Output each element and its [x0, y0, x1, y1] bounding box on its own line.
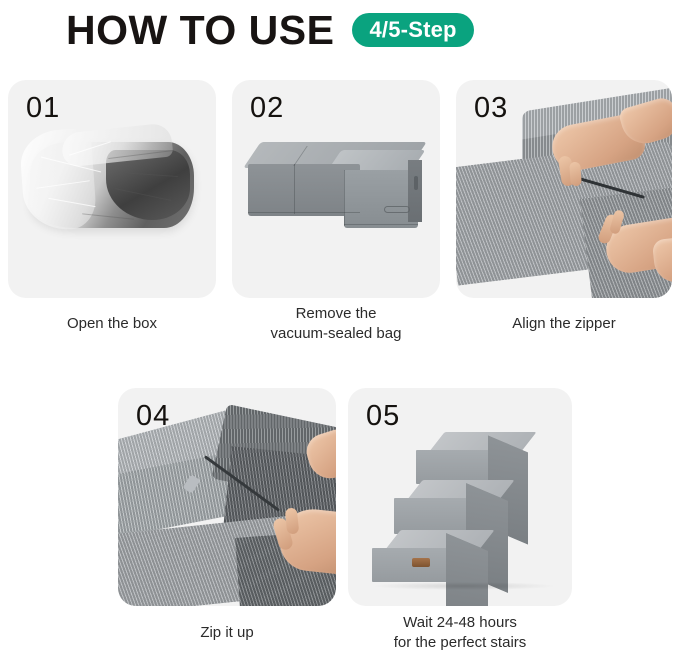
step-number-01: 01 [26, 92, 60, 125]
step-card-01: 01 [8, 80, 216, 298]
step-caption-02: Remove the vacuum-sealed bag [232, 304, 440, 344]
step-card-04: 04 [118, 388, 336, 606]
step-caption-05: Wait 24-48 hours for the perfect stairs [348, 613, 572, 653]
page-title: HOW TO USE [66, 10, 334, 51]
status-badge: 4/5-Step [352, 13, 473, 47]
step-card-02: 02 [232, 80, 440, 298]
step-caption-04: Zip it up [118, 623, 336, 643]
step-caption-03: Align the zipper [456, 314, 672, 334]
header: HOW TO USE 4/5-Step [0, 0, 679, 60]
brand-tag [412, 558, 430, 567]
step-caption-05-line-1: Wait 24-48 hours [348, 613, 572, 633]
step-caption-01: Open the box [8, 314, 216, 334]
step-caption-02-line-2: vacuum-sealed bag [232, 324, 440, 344]
step-card-05: 05 [348, 388, 572, 606]
step-number-04: 04 [136, 400, 170, 433]
step-caption-05-line-2: for the perfect stairs [348, 633, 572, 653]
step-number-02: 02 [250, 92, 284, 125]
step-caption-02-line-1: Remove the [232, 304, 440, 324]
step-card-03: 03 [456, 80, 672, 298]
step-number-05: 05 [366, 400, 400, 433]
step-number-03: 03 [474, 92, 508, 125]
